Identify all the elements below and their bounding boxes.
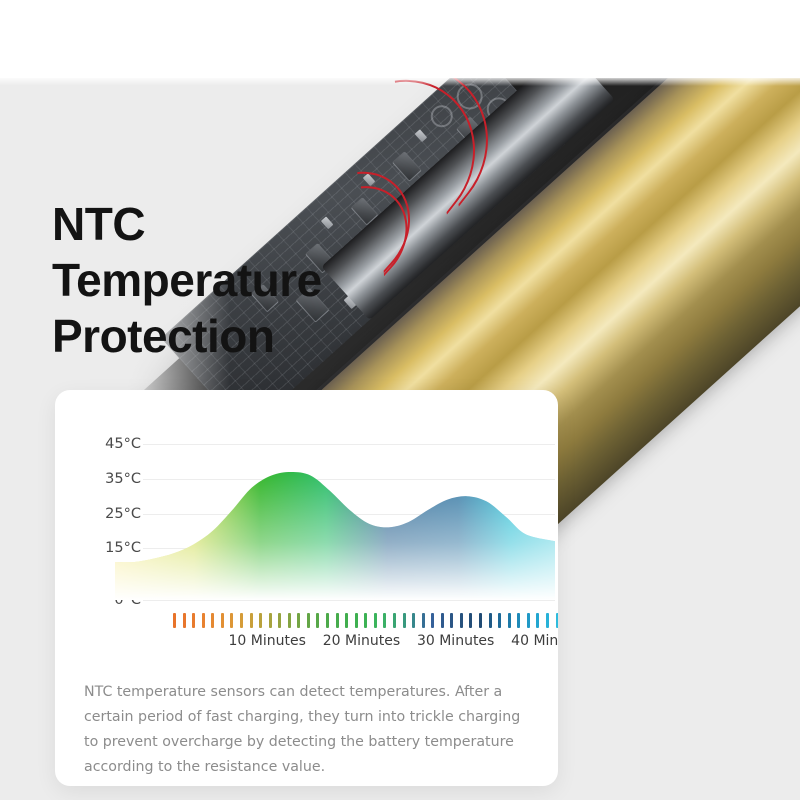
- x-axis-tick-mark: [202, 613, 205, 628]
- x-axis-tick-mark: [508, 613, 511, 628]
- x-axis-tick-mark: [221, 613, 224, 628]
- x-axis-tick-mark: [489, 613, 492, 628]
- x-axis-tick-label: 20 Minutes: [323, 633, 400, 649]
- x-axis-tick-mark: [173, 613, 176, 628]
- x-axis-tick-mark: [527, 613, 530, 628]
- x-axis-tick-mark: [307, 613, 310, 628]
- temperature-chart: 45°C35°C25°C15°C0°C: [55, 390, 558, 640]
- x-axis-tick-label: 40 Minutes: [511, 633, 558, 649]
- x-axis-tick-mark: [422, 613, 425, 628]
- x-axis-tick-mark: [211, 613, 214, 628]
- x-axis-tick-mark: [498, 613, 501, 628]
- temperature-chart-card: 45°C35°C25°C15°C0°C: [55, 390, 558, 786]
- x-axis-tick-mark: [297, 613, 300, 628]
- x-axis-tick-mark: [450, 613, 453, 628]
- page-title: NTC Temperature Protection: [52, 196, 452, 364]
- x-axis-tick-mark: [479, 613, 482, 628]
- x-axis-tick-mark: [192, 613, 195, 628]
- x-axis-tick-mark: [278, 613, 281, 628]
- x-axis-labels: 10 Minutes20 Minutes30 Minutes40 Minutes: [143, 633, 558, 655]
- x-axis-tick-label: 10 Minutes: [229, 633, 306, 649]
- x-axis-tick-mark: [556, 613, 559, 628]
- x-axis-tick-mark: [441, 613, 444, 628]
- x-axis-tick-mark: [230, 613, 233, 628]
- x-axis-tick-mark: [403, 613, 406, 628]
- x-axis-tick-mark: [536, 613, 539, 628]
- x-axis-tick-mark: [393, 613, 396, 628]
- x-axis-tick-mark: [517, 613, 520, 628]
- x-axis-color-ticks: [173, 612, 558, 628]
- x-axis-tick-mark: [469, 613, 472, 628]
- x-axis-tick-mark: [259, 613, 262, 628]
- x-axis-tick-mark: [383, 613, 386, 628]
- chart-plot-area: [115, 390, 555, 640]
- x-axis-tick-mark: [316, 613, 319, 628]
- x-axis-tick-mark: [345, 613, 348, 628]
- x-axis-tick-mark: [336, 613, 339, 628]
- x-axis-tick-mark: [460, 613, 463, 628]
- x-axis-tick-mark: [250, 613, 253, 628]
- top-white-band: [0, 0, 800, 78]
- x-axis-tick-mark: [288, 613, 291, 628]
- x-axis-tick-label: 30 Minutes: [417, 633, 494, 649]
- product-infographic-page: NTC Temperature Protection 45°C35°C25°C1…: [0, 0, 800, 800]
- x-axis-tick-mark: [269, 613, 272, 628]
- x-axis-tick-mark: [183, 613, 186, 628]
- temperature-area-svg: [115, 390, 555, 640]
- x-axis-tick-mark: [326, 613, 329, 628]
- chart-caption: NTC temperature sensors can detect tempe…: [84, 680, 524, 780]
- x-axis-tick-mark: [240, 613, 243, 628]
- x-axis-tick-mark: [364, 613, 367, 628]
- x-axis-tick-mark: [431, 613, 434, 628]
- x-axis-tick-mark: [374, 613, 377, 628]
- x-axis-tick-mark: [546, 613, 549, 628]
- x-axis-tick-mark: [412, 613, 415, 628]
- x-axis-tick-mark: [355, 613, 358, 628]
